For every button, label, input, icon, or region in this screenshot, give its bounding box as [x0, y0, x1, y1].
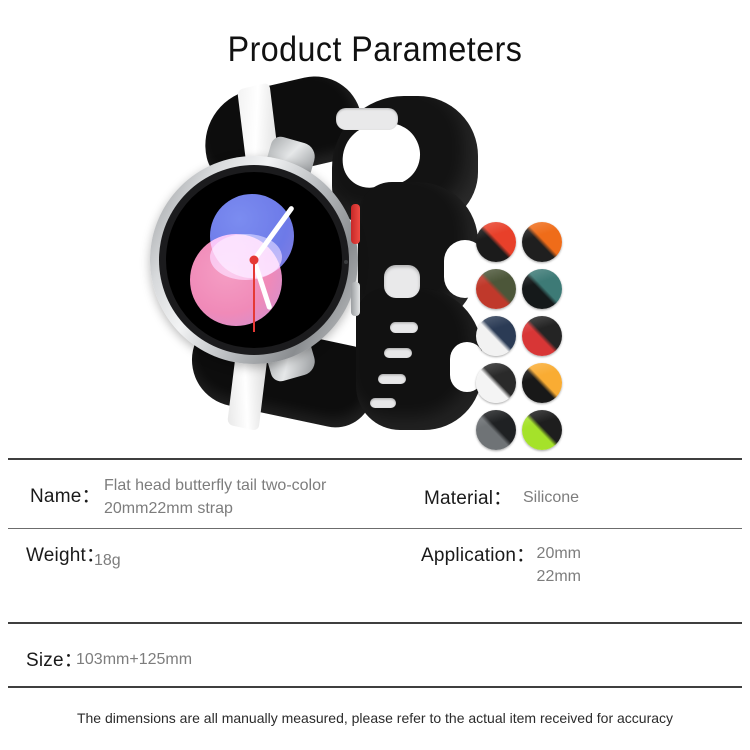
watch-stage [150, 80, 480, 445]
color-swatch-black-red[interactable] [476, 222, 516, 262]
spec-label-size: Size： [26, 645, 83, 672]
strap-hole-3 [378, 374, 406, 384]
swatch-gloss [476, 316, 516, 336]
table-rule-1 [8, 528, 742, 529]
swatch-gloss [476, 363, 516, 383]
watch-face-overlap [210, 234, 282, 280]
strap-hole-large [384, 265, 420, 298]
swatch-gloss [522, 222, 562, 242]
swatch-gloss [476, 222, 516, 242]
color-swatch-grid [476, 222, 562, 450]
spec-value-application: 20mm 22mm [525, 542, 581, 588]
strap-hole-1 [390, 322, 418, 333]
strap-hole-2 [384, 348, 412, 358]
watch-button-grey [351, 282, 360, 316]
page-title: Product Parameters [30, 30, 720, 70]
color-swatch-white-navy-blue[interactable] [476, 316, 516, 356]
strap-hole-4 [370, 398, 396, 408]
swatch-gloss [522, 410, 562, 430]
color-swatch-black-orange[interactable] [522, 222, 562, 262]
watch-microphone-hole [344, 260, 348, 264]
color-swatch-grey-black[interactable] [476, 410, 516, 450]
table-rule-bottom [8, 686, 742, 688]
swatch-gloss [522, 363, 562, 383]
swatch-gloss [476, 410, 516, 430]
watch-body [150, 156, 358, 364]
spec-value-material: Silicone [523, 486, 579, 509]
table-rule-2 [8, 622, 742, 624]
dial-hub [250, 256, 259, 265]
color-swatch-red-army-green[interactable] [476, 269, 516, 309]
table-rule-top [8, 458, 742, 460]
watch-screen [166, 172, 342, 348]
swatch-gloss [522, 316, 562, 336]
product-image [0, 80, 750, 450]
spec-value-name: Flat head butterfly tail two-color 20mm2… [104, 474, 374, 520]
spec-value-weight: 18g [94, 549, 121, 572]
spec-label-name: Name： [30, 481, 101, 508]
spec-label-application: Application： [421, 540, 535, 567]
color-swatch-lime-green-black[interactable] [522, 410, 562, 450]
color-swatch-black-yellow[interactable] [522, 363, 562, 403]
footer-disclaimer: The dimensions are all manually measured… [0, 710, 750, 726]
swatch-gloss [476, 269, 516, 289]
watch-button-red [351, 204, 360, 244]
product-parameters-page: Product Parameters [0, 0, 750, 750]
color-swatch-black-teal[interactable] [522, 269, 562, 309]
color-swatch-white-black[interactable] [476, 363, 516, 403]
swatch-gloss [522, 269, 562, 289]
spec-label-material: Material： [424, 483, 512, 510]
spec-value-size: 103mm+125mm [76, 648, 192, 671]
second-hand [253, 260, 255, 332]
strap-keeper [336, 108, 398, 130]
color-swatch-red-black[interactable] [522, 316, 562, 356]
